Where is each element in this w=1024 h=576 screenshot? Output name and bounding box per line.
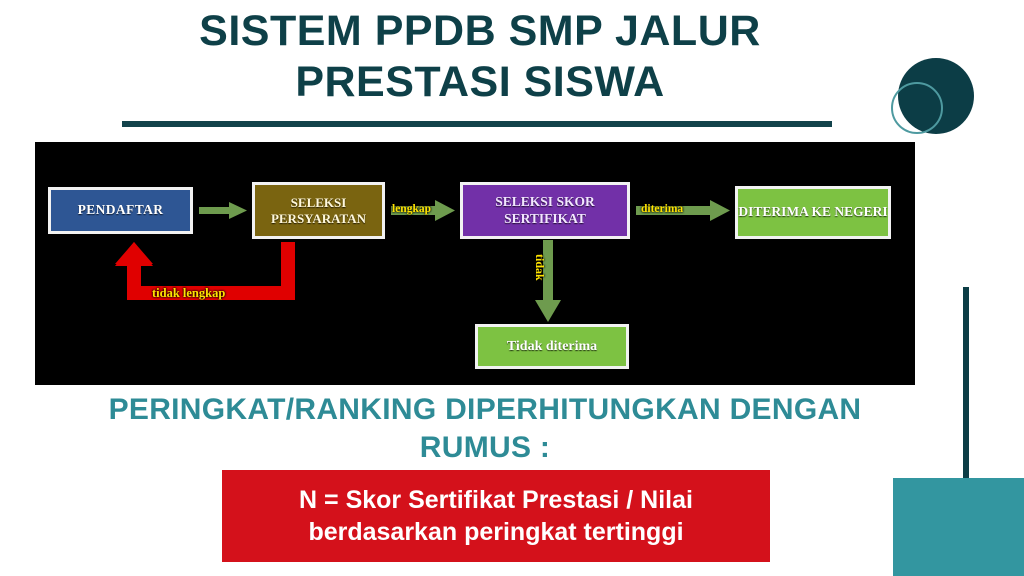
slide-subheading-line-2: RUMUS : [30,429,940,467]
flow-node-seleksi-skor-sertifikat-label: SELEKSI SKOR SERTIFIKAT [463,194,627,227]
edge-label-tidak: tidak [532,254,547,281]
edge-label-diterima: diterima [641,203,683,215]
flow-node-seleksi-skor-sertifikat: SELEKSI SKOR SERTIFIKAT [460,182,630,239]
flow-node-seleksi-persyaratan-label: SELEKSI PERSYARATAN [255,195,382,227]
arrow-tidak-down-icon [535,240,561,322]
edge-label-tidak-lengkap: tidak lengkap [152,286,225,301]
slide-title: SISTEM PPDB SMP JALUR PRESTASI SISWA [60,6,900,107]
flow-node-diterima-ke-negeri-label: DITERIMA KE NEGERI [738,204,887,220]
slide-title-line-2: PRESTASI SISWA [60,57,900,108]
flow-node-tidak-diterima: Tidak diterima [475,324,629,369]
presentation-slide: SISTEM PPDB SMP JALUR PRESTASI SISWA PEN… [0,0,1024,576]
flow-node-pendaftar: PENDAFTAR [48,187,193,234]
formula-banner: N = Skor Sertifikat Prestasi / Nilai ber… [222,470,770,562]
rectangle-decoration [893,478,1024,576]
slide-title-line-1: SISTEM PPDB SMP JALUR [60,6,900,57]
arrow-pendaftar-to-persyaratan-icon [199,202,247,219]
flow-diagram-panel: PENDAFTAR SELEKSI PERSYARATAN SELEKSI SK… [35,142,915,385]
flow-node-tidak-diterima-label: Tidak diterima [507,338,597,355]
edge-label-lengkap: lengkap [392,203,431,215]
flow-node-seleksi-persyaratan: SELEKSI PERSYARATAN [252,182,385,239]
slide-subheading: PERINGKAT/RANKING DIPERHITUNGKAN DENGAN … [30,391,940,468]
slide-subheading-line-1: PERINGKAT/RANKING DIPERHITUNGKAN DENGAN [30,391,940,429]
formula-line-2: berdasarkan peringkat tertinggi [299,516,693,549]
title-underline-divider [122,121,832,127]
formula-line-1: N = Skor Sertifikat Prestasi / Nilai [299,484,693,517]
flow-node-diterima-ke-negeri: DITERIMA KE NEGERI [735,186,891,239]
flow-node-pendaftar-label: PENDAFTAR [78,202,164,218]
